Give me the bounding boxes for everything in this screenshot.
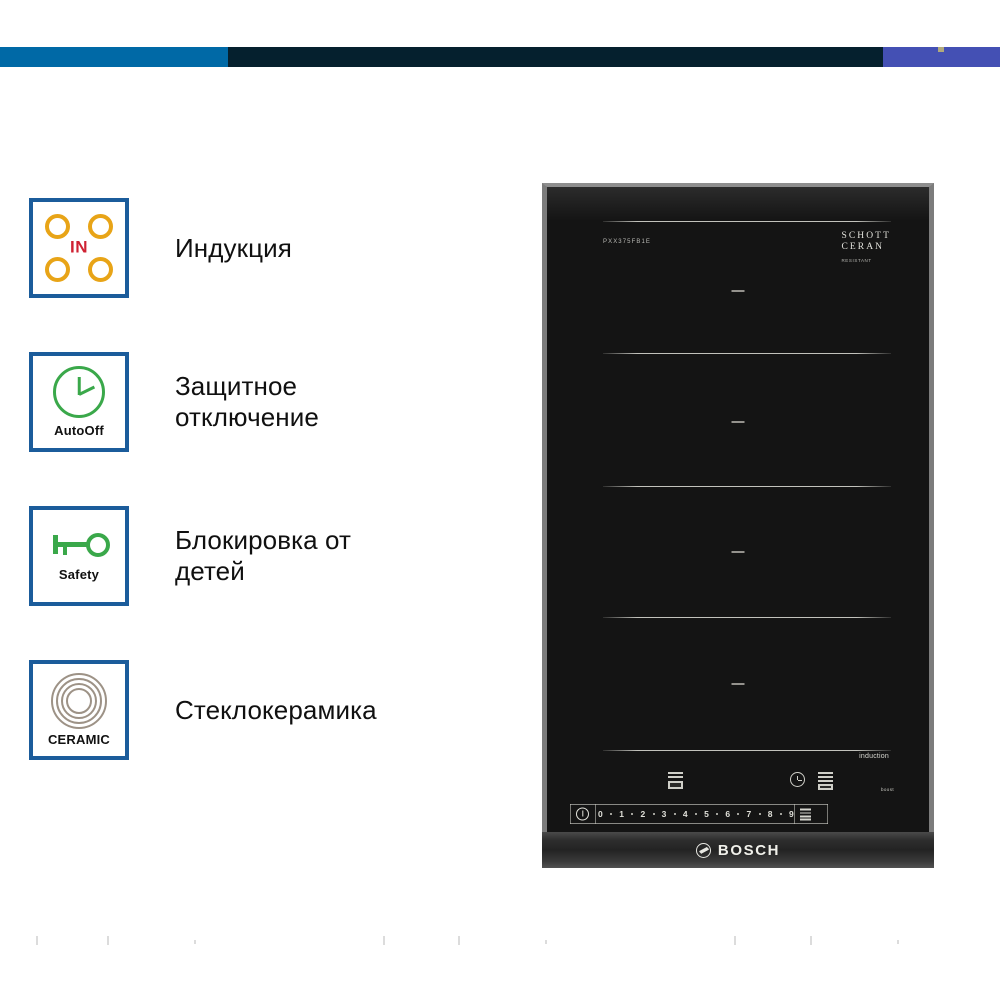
bosch-logo-text: BOSCH bbox=[718, 842, 780, 859]
right-function-bar-3 bbox=[818, 780, 833, 782]
bottom-artifact-row bbox=[0, 930, 1000, 954]
slider-dot-6-7 bbox=[737, 813, 739, 815]
slider-dot-0-1 bbox=[610, 813, 612, 815]
zone-divider-1 bbox=[603, 353, 891, 354]
artifact-7 bbox=[734, 936, 736, 945]
artifact-1 bbox=[36, 936, 38, 945]
induction-zones-icon: IN bbox=[42, 211, 116, 285]
cooktop-product-image: PXX375FB1E SCHOTT CERAN RESISTANT induct… bbox=[542, 183, 934, 868]
slider-tick-start bbox=[570, 804, 571, 824]
zone-divider-top bbox=[603, 221, 891, 222]
key-tooth-1 bbox=[53, 535, 58, 554]
power-level-scale[interactable]: 0 1 2 3 4 5 6 7 8 bbox=[598, 805, 794, 823]
clock-hand-hour bbox=[78, 386, 94, 396]
power-level-8[interactable]: 8 bbox=[768, 809, 773, 819]
auto-off-badge-caption: AutoOff bbox=[54, 423, 104, 438]
artifact-9 bbox=[897, 940, 899, 944]
artifact-2 bbox=[107, 936, 109, 945]
left-function-bar-1 bbox=[668, 772, 683, 774]
induction-badge: IN bbox=[29, 198, 129, 298]
slider-dot-3-4 bbox=[674, 813, 676, 815]
schott-ceran-logo: SCHOTT CERAN RESISTANT bbox=[841, 231, 891, 263]
slider-dot-5-6 bbox=[716, 813, 718, 815]
timer-clock-icon[interactable] bbox=[790, 772, 806, 788]
slider-tick-end bbox=[827, 804, 828, 824]
induction-badge-caption: IN bbox=[42, 238, 116, 258]
zone-mark-4 bbox=[732, 683, 745, 685]
bosch-logo: BOSCH bbox=[696, 842, 780, 859]
zone-mark-3 bbox=[732, 551, 745, 553]
bosch-logo-mark bbox=[696, 843, 711, 858]
top-color-bar bbox=[0, 47, 1000, 67]
power-level-7[interactable]: 7 bbox=[747, 809, 752, 819]
artifact-8 bbox=[810, 936, 812, 945]
feature-item-child-lock: Safety Блокировка от детей bbox=[29, 504, 499, 608]
power-level-4[interactable]: 4 bbox=[683, 809, 688, 819]
right-function-bar-1 bbox=[818, 772, 833, 774]
feature-label-ceramic: Стеклокерамика bbox=[175, 695, 377, 726]
artifact-3 bbox=[194, 940, 196, 944]
schott-line-3: RESISTANT bbox=[841, 258, 891, 263]
burner-ring-top-right bbox=[88, 214, 113, 239]
cooktop-glass-surface: PXX375FB1E SCHOTT CERAN RESISTANT induct… bbox=[547, 187, 929, 832]
slider-tick-after-power bbox=[595, 804, 596, 824]
artifact-6 bbox=[545, 940, 547, 944]
top-bar-band-blue bbox=[0, 47, 228, 67]
slider-dot-8-9 bbox=[780, 813, 782, 815]
power-level-2[interactable]: 2 bbox=[640, 809, 645, 819]
right-function-block bbox=[818, 784, 833, 790]
ceramic-rings-icon bbox=[51, 673, 107, 729]
top-bar-band-navy bbox=[228, 47, 883, 67]
feature-label-induction: Индукция bbox=[175, 233, 292, 264]
child-lock-badge: Safety bbox=[29, 506, 129, 606]
feature-label-child-lock: Блокировка от детей bbox=[175, 525, 351, 586]
power-level-slider[interactable]: 0 1 2 3 4 5 6 7 8 bbox=[570, 804, 828, 824]
slider-dot-2-3 bbox=[653, 813, 655, 815]
power-button[interactable] bbox=[576, 808, 589, 821]
child-lock-badge-caption: Safety bbox=[59, 567, 99, 582]
boost-label: boost bbox=[881, 787, 894, 792]
power-level-6[interactable]: 6 bbox=[725, 809, 730, 819]
slider-dot-7-8 bbox=[759, 813, 761, 815]
slider-end-icon[interactable] bbox=[800, 808, 824, 821]
artifact-4 bbox=[383, 936, 385, 945]
power-symbol-line bbox=[582, 811, 583, 817]
power-level-1[interactable]: 1 bbox=[619, 809, 624, 819]
slider-tick-before-end bbox=[794, 804, 795, 824]
burner-ring-bottom-left bbox=[45, 257, 70, 282]
cooktop-model-code: PXX375FB1E bbox=[603, 239, 651, 245]
feature-item-auto-off: AutoOff Защитное отключение bbox=[29, 350, 499, 454]
left-function-block bbox=[668, 781, 683, 789]
key-tooth-2 bbox=[63, 547, 67, 555]
top-bar-artifact bbox=[938, 47, 944, 52]
cooktop-front-edge: BOSCH bbox=[542, 832, 934, 868]
timer-clock-hand-hour bbox=[798, 780, 802, 781]
power-level-0[interactable]: 0 bbox=[598, 809, 603, 819]
right-function-bar-2 bbox=[818, 776, 833, 778]
power-level-5[interactable]: 5 bbox=[704, 809, 709, 819]
zone-mark-2 bbox=[732, 421, 745, 423]
zone-divider-2 bbox=[603, 486, 891, 487]
left-function-icon[interactable] bbox=[667, 771, 684, 790]
feature-item-induction: IN Индукция bbox=[29, 196, 499, 300]
key-shaft bbox=[54, 542, 90, 547]
left-function-bar-2 bbox=[668, 776, 683, 778]
ceramic-badge: CERAMIC bbox=[29, 660, 129, 760]
slider-end-bar-1 bbox=[800, 809, 811, 811]
slider-end-bar-4 bbox=[800, 819, 811, 821]
induction-text-label: induction bbox=[859, 753, 889, 760]
ceramic-badge-caption: CERAMIC bbox=[48, 732, 110, 747]
slider-end-bar-2 bbox=[800, 812, 811, 814]
artifact-5 bbox=[458, 936, 460, 945]
ceramic-ring-4 bbox=[66, 688, 92, 714]
cooktop-control-panel[interactable]: 0 1 2 3 4 5 6 7 8 bbox=[552, 769, 924, 835]
feature-item-ceramic: CERAMIC Стеклокерамика bbox=[29, 658, 499, 762]
zone-mark-1 bbox=[732, 290, 745, 292]
slider-dot-4-5 bbox=[695, 813, 697, 815]
zone-divider-bottom bbox=[603, 750, 891, 751]
auto-off-badge: AutoOff bbox=[29, 352, 129, 452]
slider-end-bar-3 bbox=[800, 816, 811, 818]
burner-ring-bottom-right bbox=[88, 257, 113, 282]
schott-line-2: CERAN bbox=[841, 242, 891, 253]
auto-off-clock-icon bbox=[53, 366, 105, 418]
child-lock-key-icon bbox=[48, 530, 110, 564]
zone-divider-3 bbox=[603, 617, 891, 618]
feature-list: IN Индукция AutoOff Защитное отключение … bbox=[29, 196, 499, 812]
right-function-icon[interactable] bbox=[817, 771, 834, 790]
slider-dot-1-2 bbox=[631, 813, 633, 815]
power-level-3[interactable]: 3 bbox=[662, 809, 667, 819]
feature-label-auto-off: Защитное отключение bbox=[175, 371, 319, 432]
power-level-9[interactable]: 9 bbox=[789, 809, 794, 819]
schott-line-1: SCHOTT bbox=[841, 231, 891, 242]
burner-ring-top-left bbox=[45, 214, 70, 239]
